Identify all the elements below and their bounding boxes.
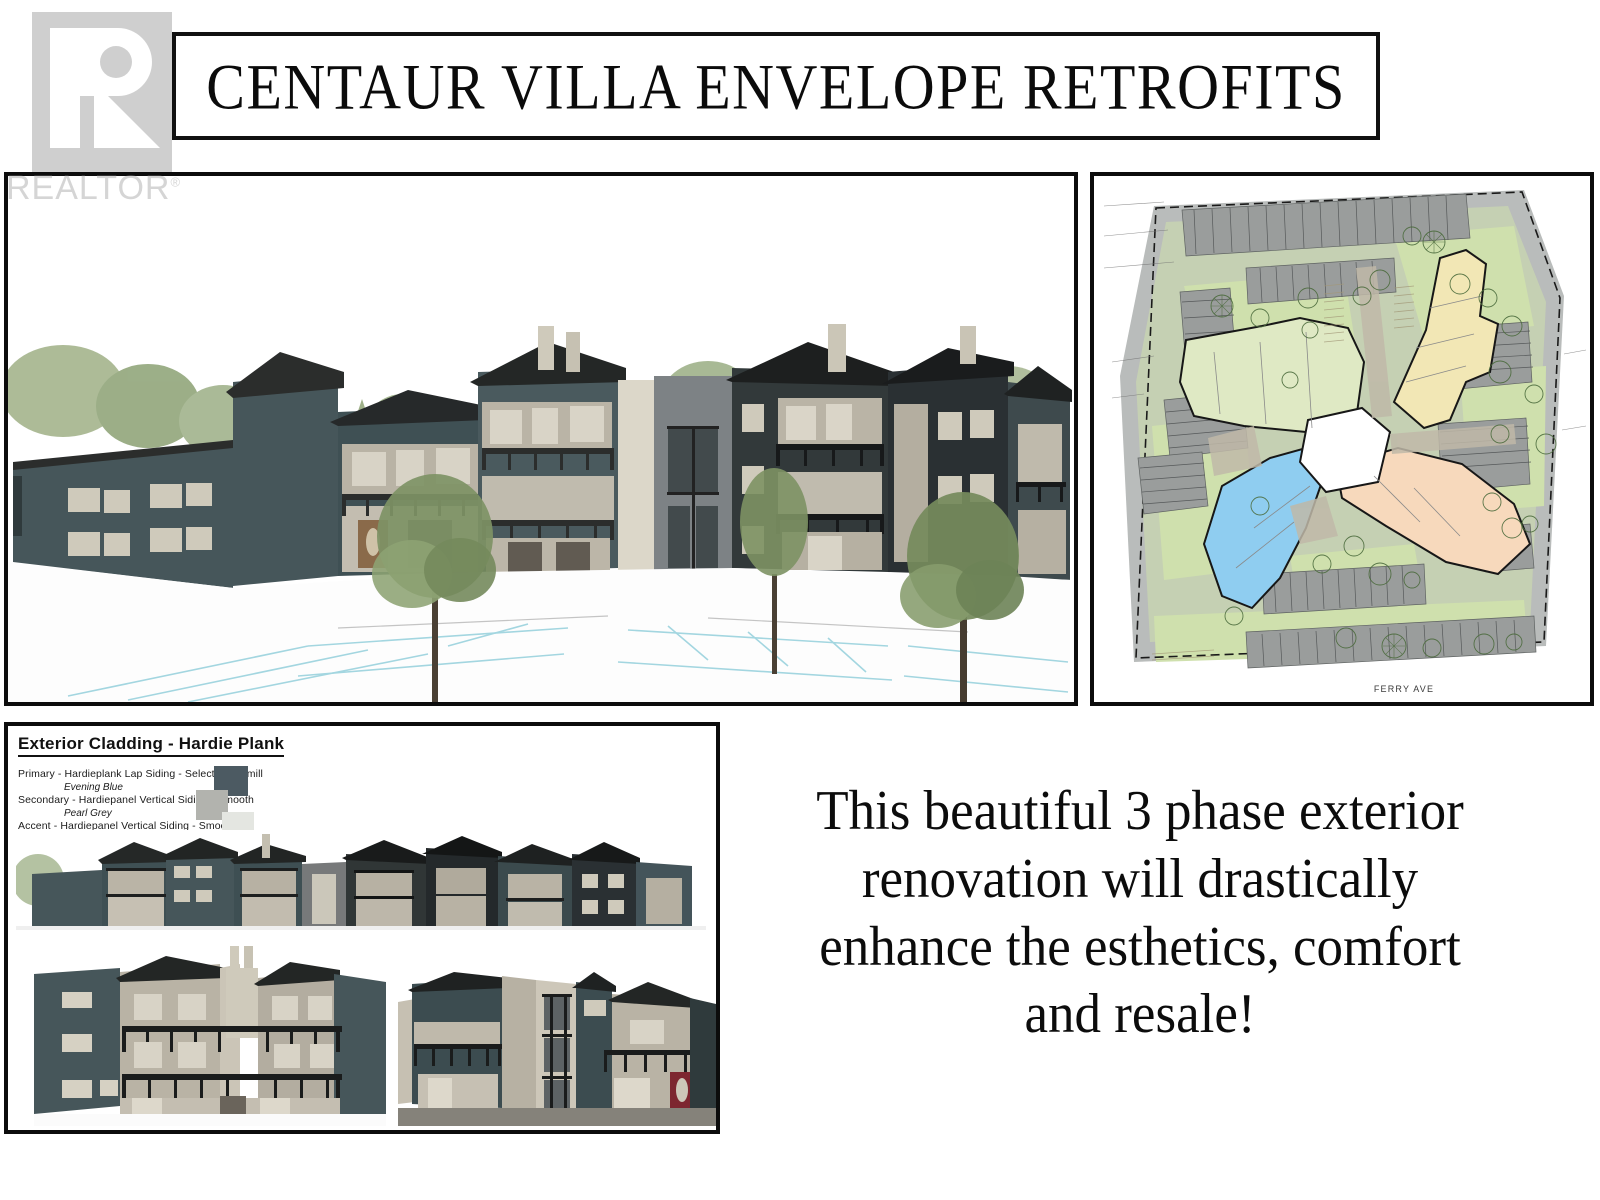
marketing-blurb: This beautiful 3 phase exterior renovati… [740, 778, 1540, 1049]
site-plan-panel: FERRY AVE [1090, 172, 1594, 706]
hero-rendering-image [8, 176, 1074, 702]
entry-detail-image [398, 938, 716, 1126]
street-label: FERRY AVE [1374, 684, 1434, 694]
building-elevation-image [16, 830, 706, 930]
legend-title: Exterior Cladding - Hardie Plank [18, 734, 284, 757]
legend-primary-color: Evening Blue [64, 781, 578, 794]
page-title: CENTAUR VILLA ENVELOPE RETROFITS [206, 48, 1345, 123]
page-title-box: CENTAUR VILLA ENVELOPE RETROFITS [172, 32, 1380, 140]
legend-secondary-color: Pearl Grey [64, 807, 578, 820]
blurb-line-2: renovation will drastically [740, 844, 1540, 916]
blurb-line-1: This beautiful 3 phase exterior [740, 776, 1540, 848]
site-plan-image: FERRY AVE [1094, 176, 1590, 702]
legend-primary-line: Primary - Hardieplank Lap Siding - Selec… [18, 768, 578, 781]
realtor-logo-icon [32, 12, 172, 172]
legend-secondary-line: Secondary - Hardiepanel Vertical Siding … [18, 794, 578, 807]
elevation-detail-panel: Exterior Cladding - Hardie Plank Primary… [4, 722, 720, 1134]
blurb-line-4: and resale! [740, 979, 1540, 1051]
hero-rendering-panel [4, 172, 1078, 706]
balcony-detail-image [34, 938, 386, 1126]
blurb-line-3: enhance the esthetics, comfort [740, 912, 1540, 984]
